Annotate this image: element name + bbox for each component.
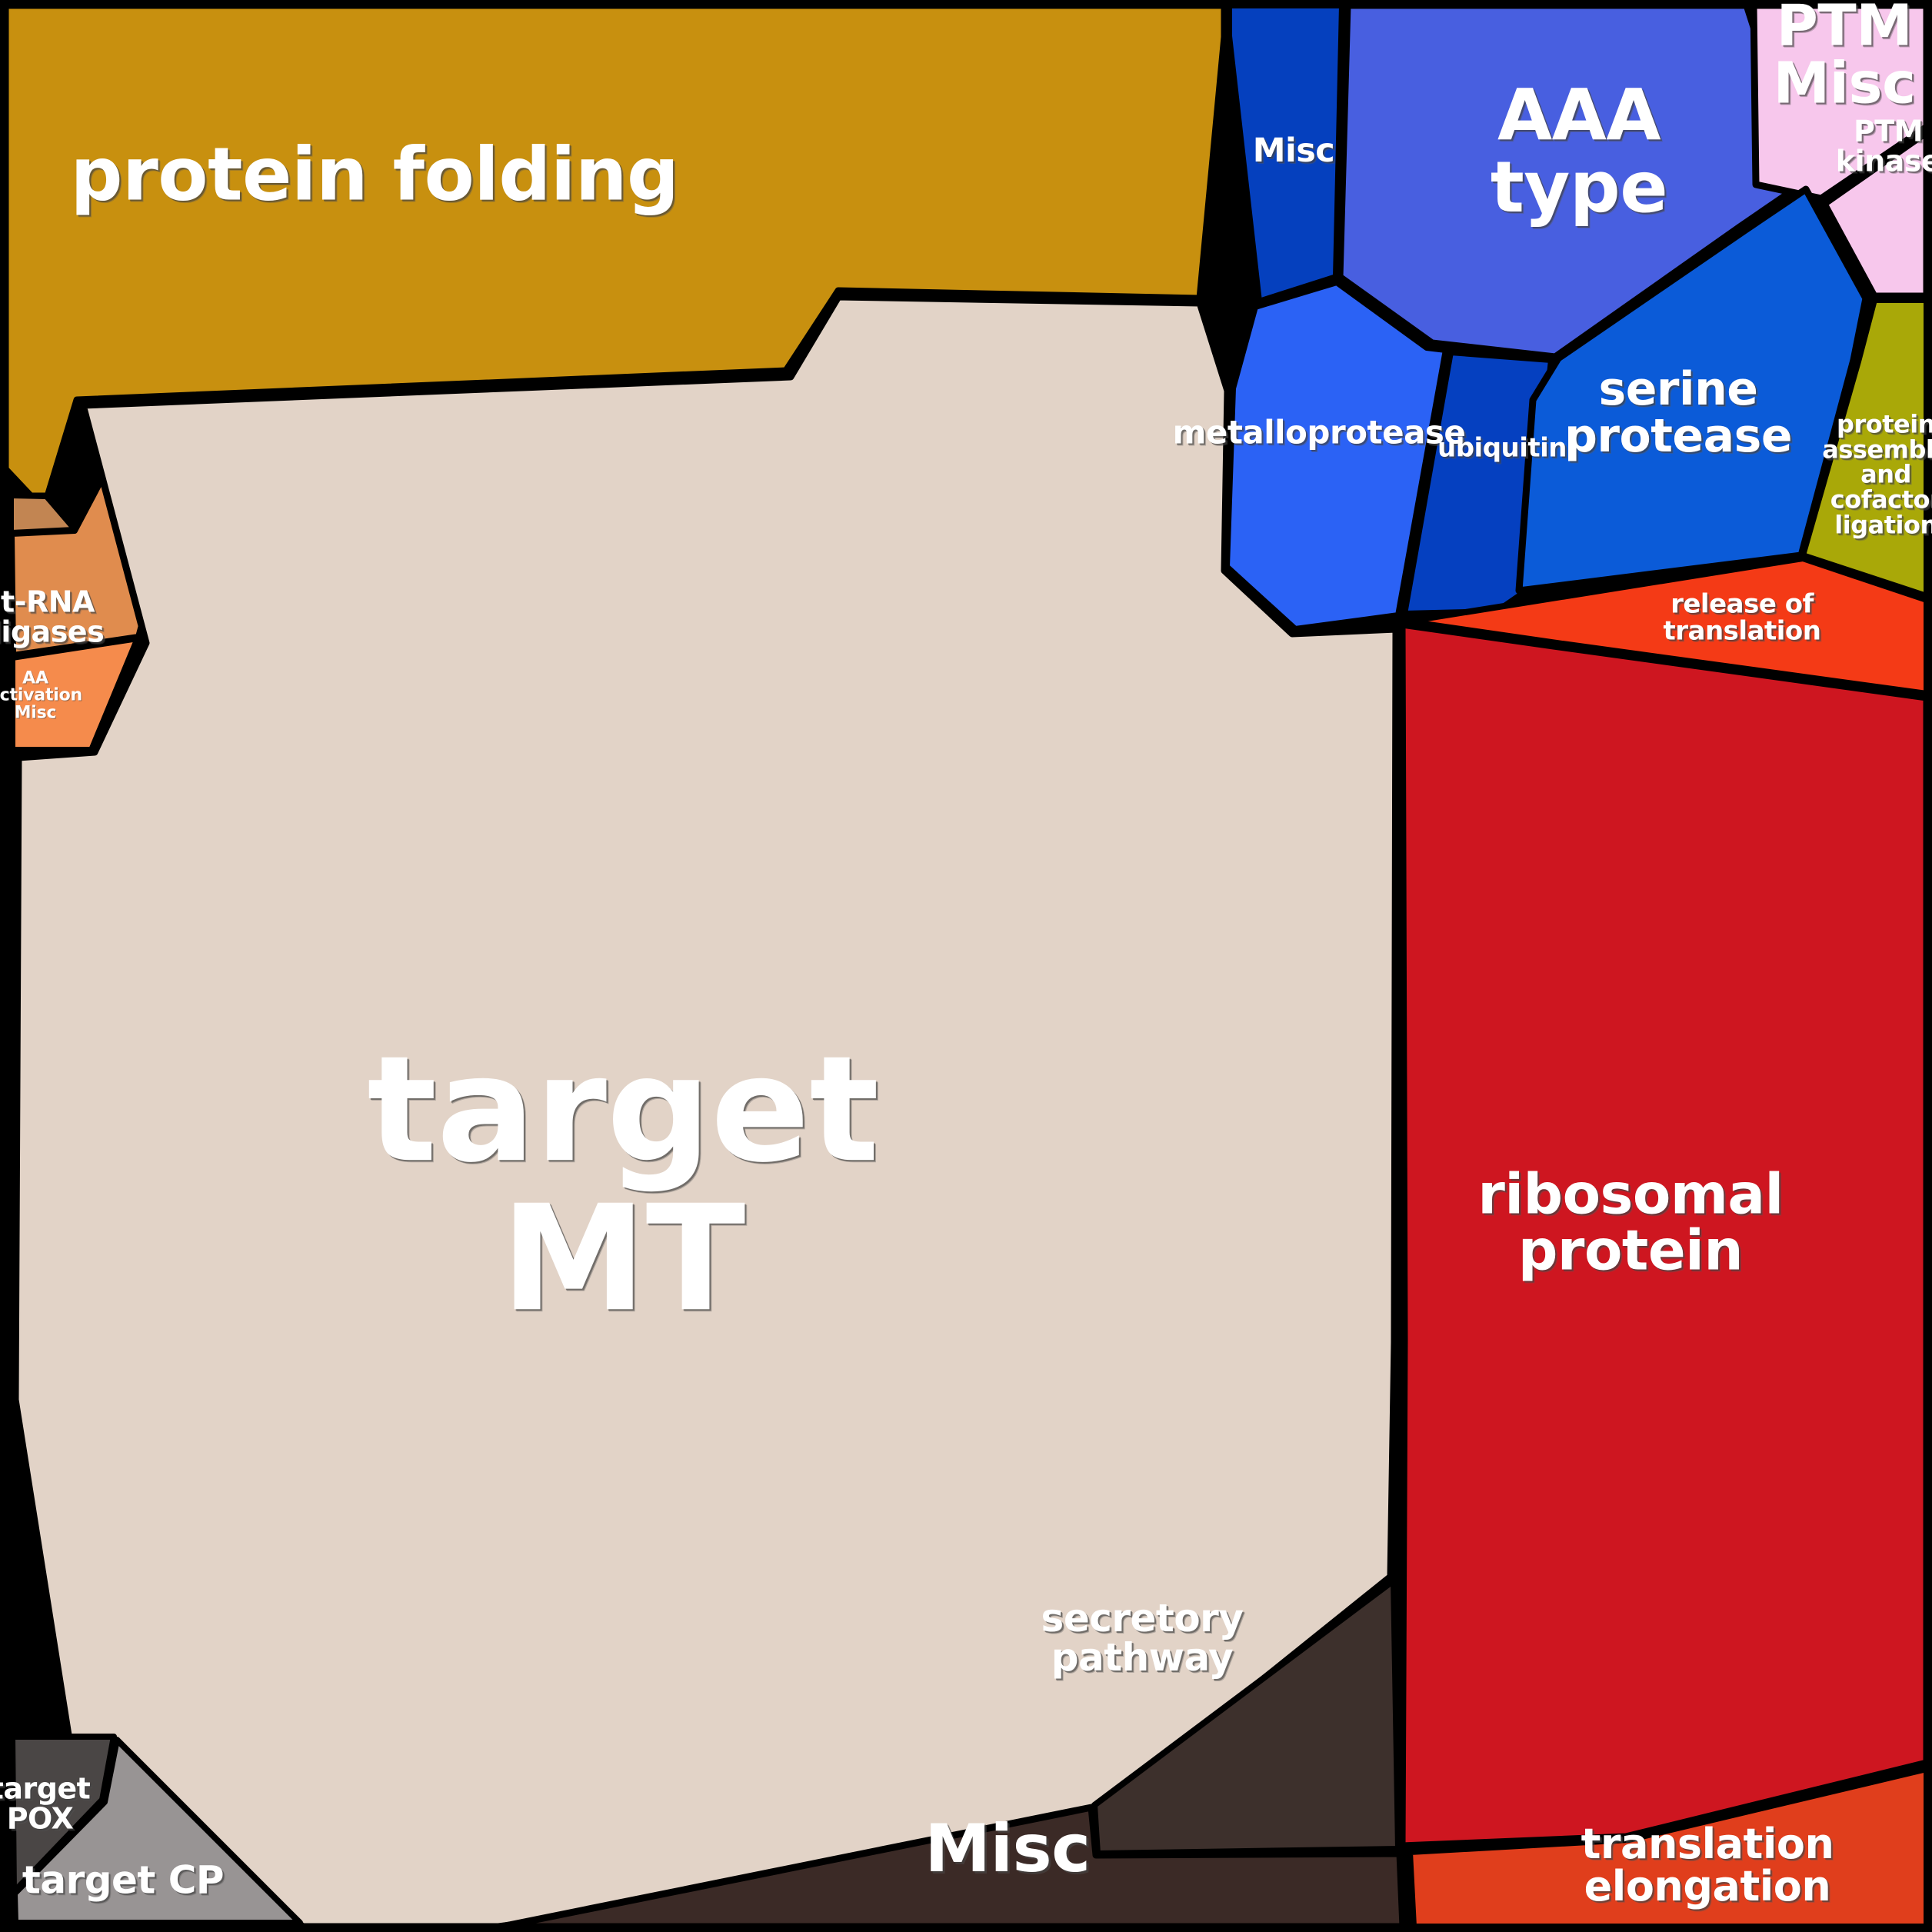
treemap-svg xyxy=(0,0,1932,1932)
treemap-cell-ribosomal-protein[interactable] xyxy=(1402,625,1927,1846)
voronoi-treemap-figure: protein foldingt-RNA ligasesAA activatio… xyxy=(0,0,1932,1932)
treemap-cells xyxy=(5,5,1927,1927)
treemap-cell-target-mt[interactable] xyxy=(15,297,1396,1927)
